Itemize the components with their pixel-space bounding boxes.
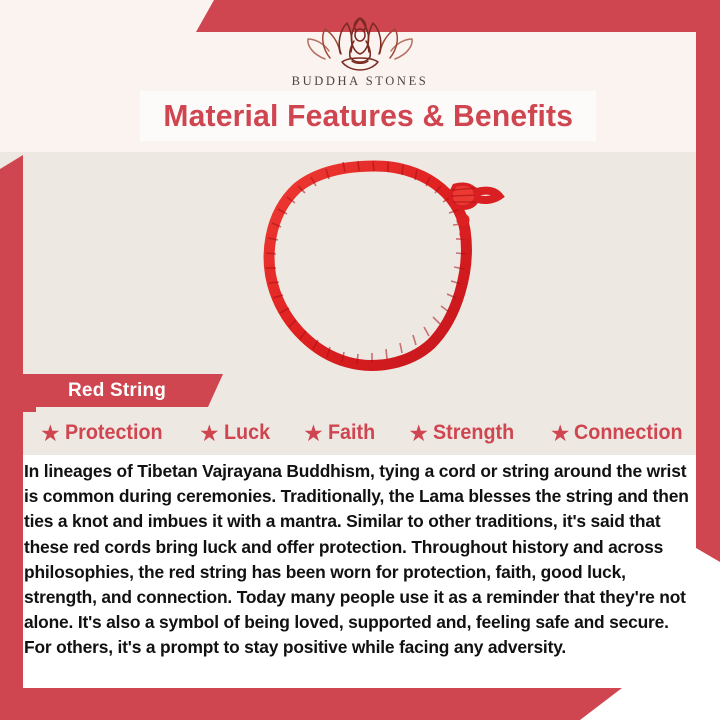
page-title: Material Features & Benefits: [163, 98, 573, 134]
product-image-red-string-bracelet: [225, 158, 505, 373]
brand-wordmark: BUDDHA STONES: [0, 74, 720, 89]
star-icon: ★: [408, 422, 429, 445]
star-icon: ★: [303, 422, 324, 445]
bracelet-cord: [269, 166, 466, 365]
brand-logo: BUDDHA STONES: [0, 14, 720, 89]
benefit-label: Connection: [574, 421, 683, 445]
benefit-item-strength: ★ Strength: [408, 421, 519, 445]
star-icon: ★: [199, 422, 220, 445]
decorative-strip-left: [0, 155, 23, 690]
product-name-label: Red String: [23, 380, 200, 402]
page-title-panel: Material Features & Benefits: [140, 91, 596, 141]
decorative-bar-bottom: [0, 688, 622, 720]
benefit-label: Strength: [433, 421, 514, 445]
benefit-item-protection: ★ Protection: [40, 421, 168, 445]
description-paragraph: In lineages of Tibetan Vajrayana Buddhis…: [24, 459, 696, 661]
benefit-item-faith: ★ Faith: [303, 421, 378, 445]
infographic-page: BUDDHA STONES Material Features & Benefi…: [0, 0, 720, 720]
benefit-label: Luck: [224, 421, 270, 445]
star-icon: ★: [40, 422, 61, 445]
star-icon: ★: [550, 422, 571, 445]
benefit-label: Protection: [65, 421, 163, 445]
benefit-item-luck: ★ Luck: [199, 421, 273, 445]
benefit-item-connection: ★ Connection: [550, 421, 690, 445]
benefit-label: Faith: [328, 421, 375, 445]
lotus-meditation-icon: [0, 14, 720, 72]
product-name-ribbon: Red String: [23, 374, 223, 407]
benefits-list: ★ Protection ★ Luck ★ Faith ★ Strength ★…: [40, 421, 690, 445]
